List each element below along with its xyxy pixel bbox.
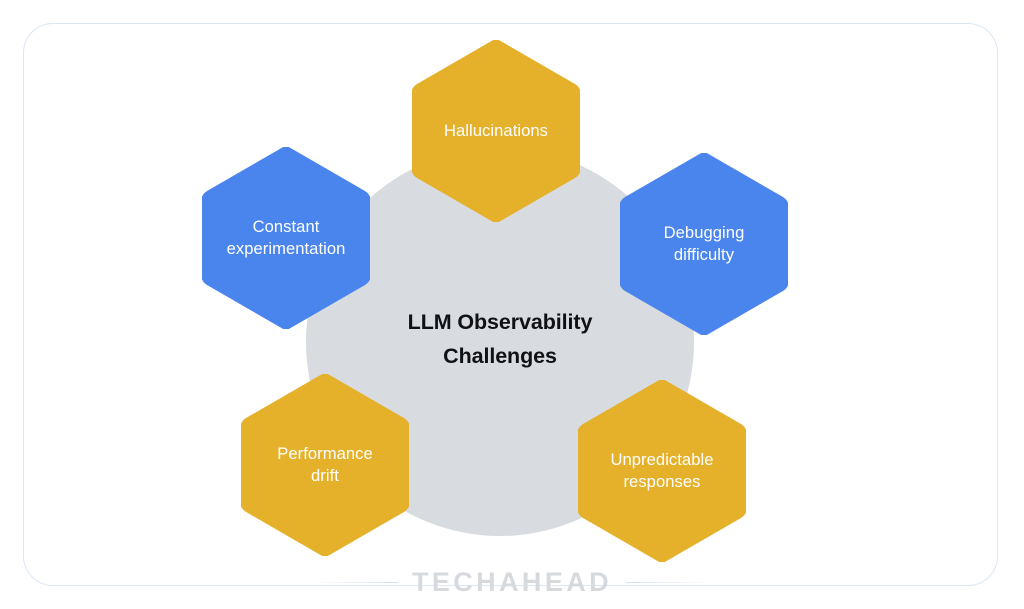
footer-brand-bar: TECHAHEAD [0,569,1024,596]
hexagon-shape-icon [202,147,370,329]
hex-node-debugging-difficulty[interactable]: Debugging difficulty [620,153,788,335]
hub-title-line-2: Challenges [350,340,650,374]
hex-node-unpredictable-responses[interactable]: Unpredictable responses [578,380,746,562]
diagram-stage: LLM Observability Challenges Hallucinati… [0,0,1024,609]
hex-node-hallucinations[interactable]: Hallucinations [412,40,580,222]
footer-rule-right [626,582,712,584]
footer-rule-left [312,582,398,584]
hub-title-line-1: LLM Observability [350,306,650,340]
hexagon-shape-icon [412,40,580,222]
hex-node-performance-drift[interactable]: Performance drift [241,374,409,556]
brand-wordmark: TECHAHEAD [412,569,612,596]
hexagon-shape-icon [620,153,788,335]
hexagon-shape-icon [578,380,746,562]
hub-label: LLM Observability Challenges [350,306,650,374]
hexagon-shape-icon [241,374,409,556]
hex-node-constant-experimentation[interactable]: Constant experimentation [202,147,370,329]
